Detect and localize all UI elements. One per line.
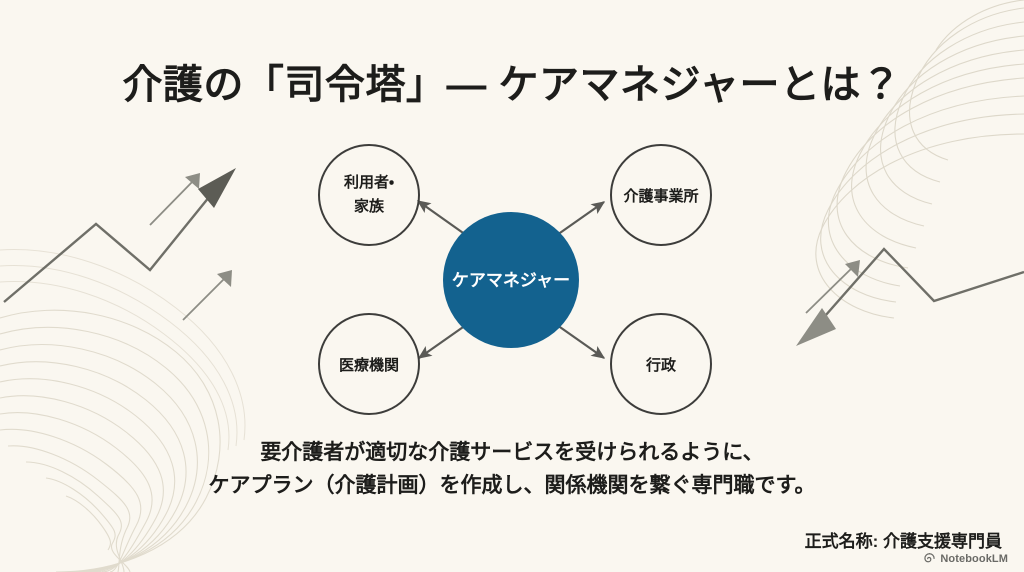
description-line-2: ケアプラン（介護計画）を作成し、関係機関を繋ぐ専門職です。 bbox=[0, 470, 1024, 503]
notebooklm-watermark-label: NotebookLM bbox=[940, 553, 1008, 565]
official-title-footnote: 正式名称: 介護支援専門員 bbox=[805, 527, 1002, 552]
node-user-family-circle bbox=[319, 145, 419, 245]
connector-to-user-family bbox=[418, 201, 466, 235]
node-government[interactable]: 行政 bbox=[611, 314, 711, 414]
node-care-manager-label: ケアマネジャー bbox=[452, 271, 570, 290]
connector-to-care-provider bbox=[557, 202, 604, 235]
slide-canvas: 介護の「司令塔」― ケアマネジャーとは？ 利用者・ 家族 介護事業所 医療機関 bbox=[0, 0, 1024, 572]
description-text: 要介護者が適切な介護サービスを受けられるように、 ケアプラン（介護計画）を作成し… bbox=[0, 437, 1024, 502]
node-government-label: 行政 bbox=[645, 356, 677, 374]
node-care-provider[interactable]: 介護事業所 bbox=[611, 145, 711, 245]
node-medical-label: 医療機関 bbox=[339, 356, 399, 374]
node-medical[interactable]: 医療機関 bbox=[319, 314, 419, 414]
notebooklm-spiral-icon bbox=[923, 552, 936, 565]
description-line-1: 要介護者が適切な介護サービスを受けられるように、 bbox=[0, 437, 1024, 470]
node-user-family-label-line1: 利用者・ bbox=[344, 173, 394, 191]
node-user-family[interactable]: 利用者・ 家族 bbox=[319, 145, 419, 245]
page-title: 介護の「司令塔」― ケアマネジャーとは？ bbox=[0, 52, 1024, 110]
node-care-provider-label: 介護事業所 bbox=[623, 187, 698, 205]
node-user-family-label-line2: 家族 bbox=[354, 197, 385, 215]
node-care-manager-center[interactable]: ケアマネジャー bbox=[443, 212, 579, 348]
notebooklm-watermark: NotebookLM bbox=[923, 552, 1008, 565]
connector-to-medical bbox=[419, 325, 466, 358]
connector-to-government bbox=[557, 325, 604, 358]
